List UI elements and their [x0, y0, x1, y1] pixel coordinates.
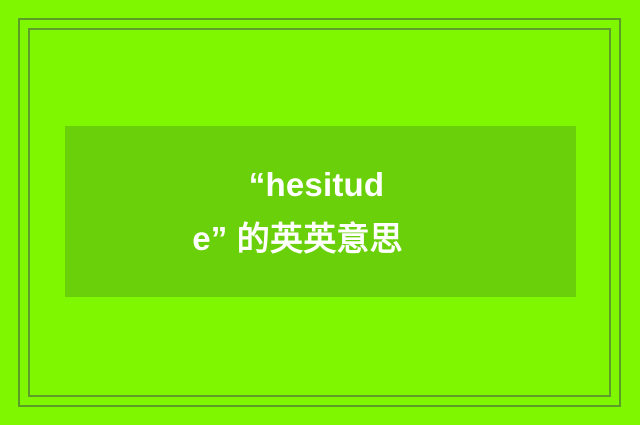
title-line-2: e” 的英英意思: [27, 212, 568, 265]
image-canvas: “hesitud e” 的英英意思: [0, 0, 640, 425]
title-plate: “hesitud e” 的英英意思: [65, 126, 576, 297]
title-line-1: “hesitud: [65, 158, 568, 211]
title-text-block: “hesitud e” 的英英意思: [65, 158, 576, 265]
